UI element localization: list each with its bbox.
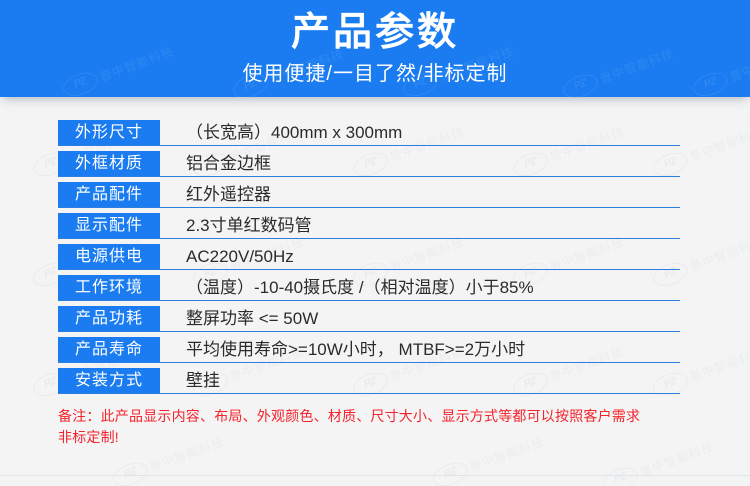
spec-row-value: 铝合金边框: [160, 151, 750, 176]
spec-row-label: 外形尺寸: [58, 120, 160, 145]
product-spec-page: PZ普中智能科技PZ普中智能科技PZ普中智能科技PZ普中智能科技PZ普中智能科技…: [0, 0, 750, 486]
spec-row-label: 产品寿命: [58, 337, 160, 362]
spec-row: 产品寿命平均使用寿命>=10W小时， MTBF>=2万小时: [0, 336, 750, 362]
page-title: 产品参数: [0, 0, 750, 58]
watermark-logo-icon: PZ: [430, 458, 471, 486]
spec-row-label: 电源供电: [58, 244, 160, 269]
spec-row-label: 显示配件: [58, 213, 160, 238]
spec-row-label: 产品功耗: [58, 306, 160, 331]
page-subtitle: 使用便捷/一目了然/非标定制: [0, 58, 750, 88]
spec-row: 电源供电AC220V/50Hz: [0, 243, 750, 269]
spec-row-value: AC220V/50Hz: [160, 244, 750, 269]
spec-row: 外形尺寸（长宽高）400mm x 300mm: [0, 119, 750, 145]
spec-row-label: 产品配件: [58, 182, 160, 207]
spec-row-value: 平均使用寿命>=10W小时， MTBF>=2万小时: [160, 337, 750, 362]
spec-row: 工作环境（温度）-10-40摄氏度 /（相对温度）小于85%: [0, 274, 750, 300]
spec-row: 外框材质铝合金边框: [0, 150, 750, 176]
watermark-logo-icon: PZ: [110, 458, 151, 486]
spec-row-value: 2.3寸单红数码管: [160, 213, 750, 238]
spec-row-label: 外框材质: [58, 151, 160, 176]
spec-row: 显示配件2.3寸单红数码管: [0, 212, 750, 238]
spec-row: 安装方式壁挂: [0, 367, 750, 393]
spec-row-value: （温度）-10-40摄氏度 /（相对温度）小于85%: [160, 275, 750, 300]
bottom-divider: [0, 475, 750, 476]
spec-row-value: 壁挂: [160, 368, 750, 393]
spec-row-value: 红外遥控器: [160, 182, 750, 207]
spec-row-value: （长宽高）400mm x 300mm: [160, 120, 750, 145]
page-header-banner: PZ普中智能科技PZ普中智能科技PZ普中智能科技PZ普中智能科技PZ普中智能科技…: [0, 0, 750, 97]
spec-table: 外形尺寸（长宽高）400mm x 300mm外框材质铝合金边框产品配件红外遥控器…: [0, 119, 750, 393]
spec-row: 产品功耗整屏功率 <= 50W: [0, 305, 750, 331]
spec-row: 产品配件红外遥控器: [0, 181, 750, 207]
footer-note: 备注：此产品显示内容、布局、外观颜色、材质、尺寸大小、显示方式等都可以按照客户需…: [0, 406, 750, 448]
spec-row-label: 工作环境: [58, 275, 160, 300]
spec-row-label: 安装方式: [58, 368, 160, 393]
spec-row-value: 整屏功率 <= 50W: [160, 306, 750, 331]
